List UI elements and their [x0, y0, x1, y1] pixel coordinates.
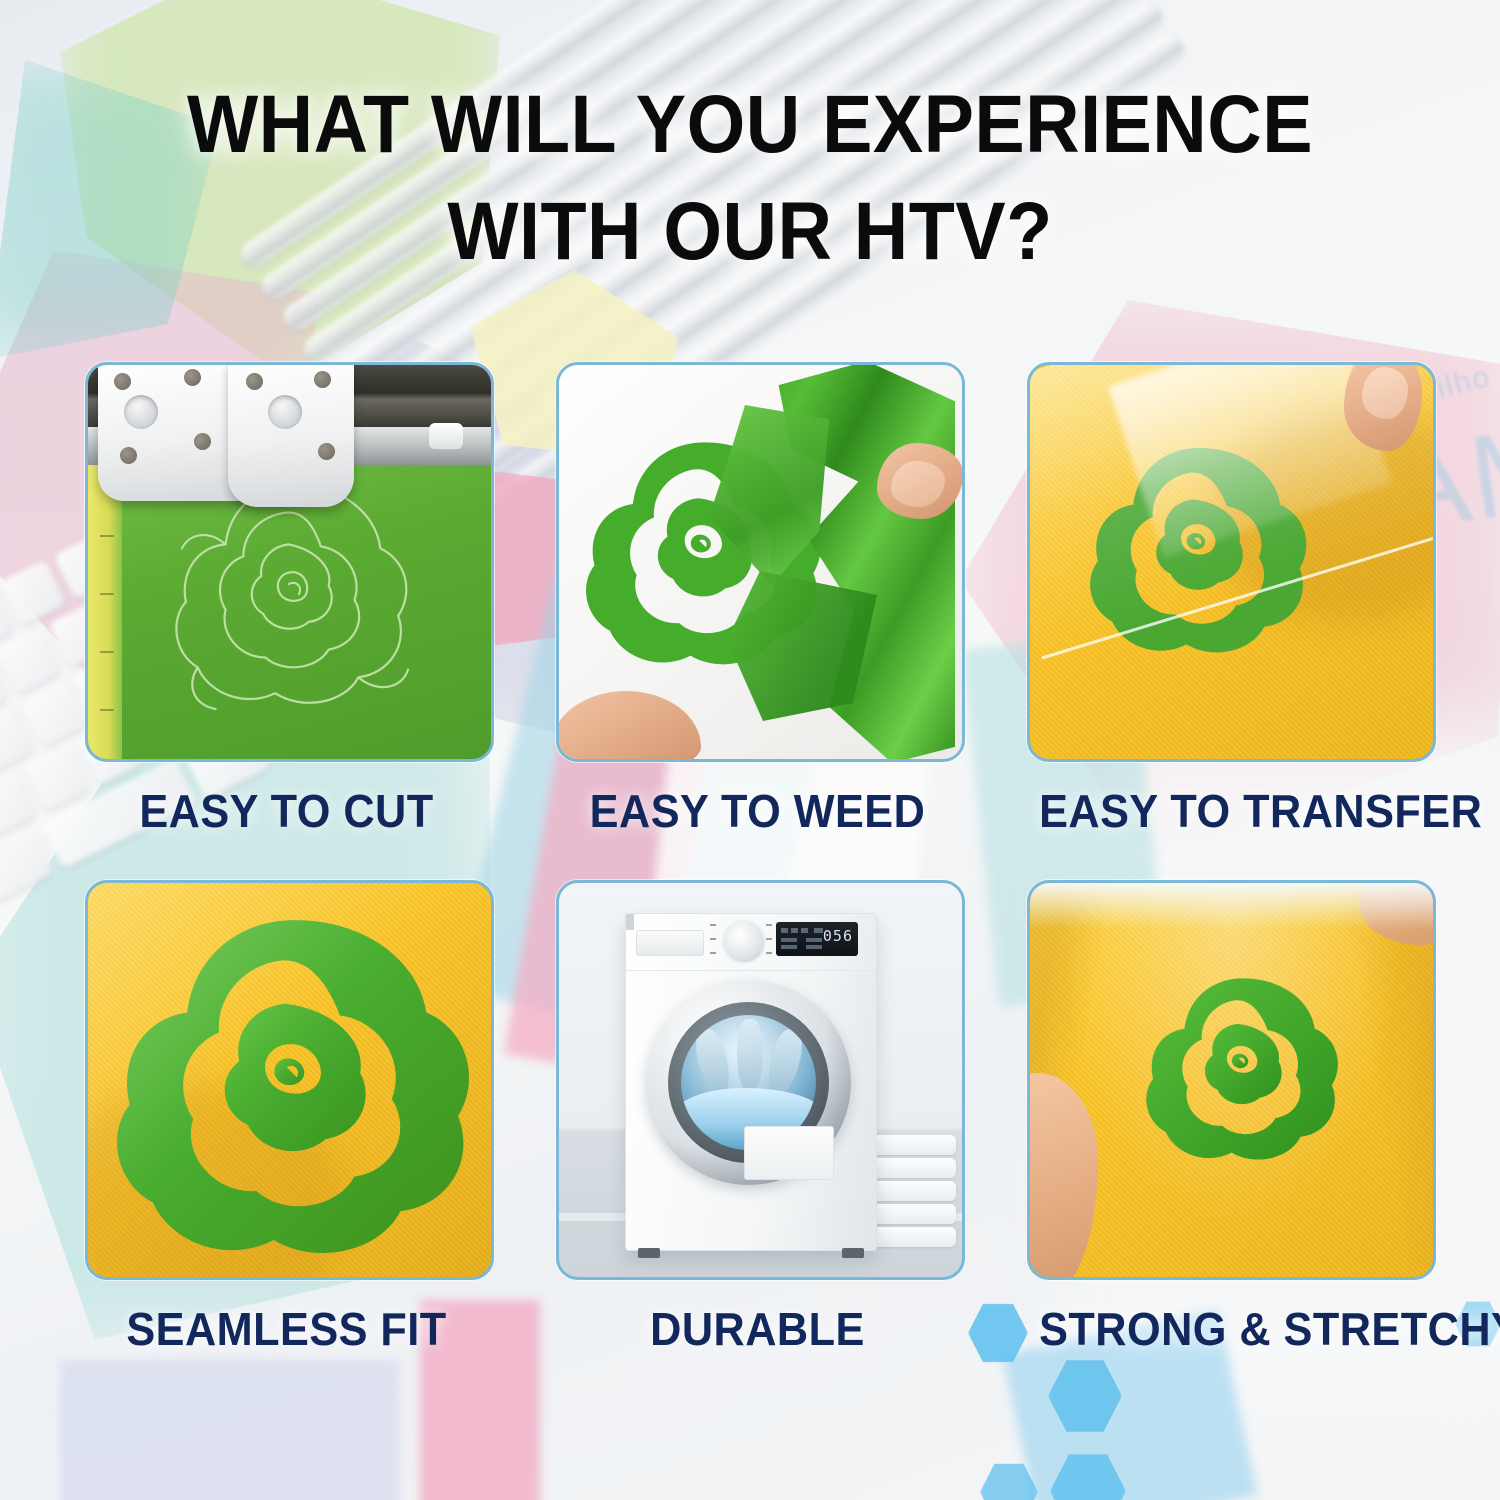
display-value: 056 — [823, 927, 853, 945]
panel-strong-and-stretchy[interactable] — [1027, 880, 1436, 1280]
vinyl-backing-edge — [88, 461, 122, 759]
panel-easy-to-transfer[interactable] — [1027, 362, 1436, 762]
feature-cell-easy-to-cut: EASY TO CUT — [85, 362, 488, 838]
washing-machine: 056 — [625, 913, 877, 1251]
caption-easy-to-transfer: EASY TO TRANSFER — [1039, 784, 1418, 838]
detergent-drawer — [636, 930, 704, 956]
feature-cell-durable: 056 — [556, 880, 959, 1356]
caption-strong-and-stretchy: STRONG & STRETCHY — [1039, 1302, 1418, 1356]
ruler-tick — [100, 593, 114, 595]
infographic-canvas: silho AM WHAT WILL YOU EXPERIENCE WITH O… — [0, 0, 1500, 1500]
caption-durable: DURABLE — [568, 1302, 947, 1356]
feature-cell-seamless-fit: SEAMLESS FIT — [85, 880, 488, 1356]
ruler-tick — [100, 535, 114, 537]
panel-seamless-fit[interactable] — [85, 880, 494, 1280]
page-title: WHAT WILL YOU EXPERIENCE WITH OUR HTV? — [60, 72, 1440, 285]
cutter-carriage-blade-holder — [228, 362, 354, 507]
feature-row-2: SEAMLESS FIT — [85, 880, 1430, 1356]
machine-foot — [842, 1248, 864, 1258]
caption-easy-to-cut: EASY TO CUT — [97, 784, 476, 838]
control-panel: 056 — [626, 914, 876, 971]
filter-hatch — [744, 1126, 834, 1180]
rose-design-icon — [1122, 969, 1360, 1165]
feature-cell-easy-to-transfer: EASY TO TRANSFER — [1027, 362, 1430, 838]
display-screen: 056 — [776, 922, 858, 956]
paper-shard-lavender-bottom — [60, 1360, 400, 1500]
feature-cell-strong-and-stretchy: STRONG & STRETCHY — [1027, 880, 1430, 1356]
feature-row-1: EASY TO CUT — [85, 362, 1430, 838]
cutter-roller — [429, 423, 463, 449]
machine-foot — [638, 1248, 660, 1258]
feature-cell-easy-to-weed: EASY TO WEED — [556, 362, 959, 838]
panel-easy-to-weed[interactable] — [556, 362, 965, 762]
panel-durable[interactable]: 056 — [556, 880, 965, 1280]
fingernail — [1362, 367, 1408, 419]
caption-seamless-fit: SEAMLESS FIT — [97, 1302, 476, 1356]
panel-easy-to-cut[interactable] — [85, 362, 494, 762]
ruler-tick — [100, 709, 114, 711]
program-dial[interactable] — [722, 920, 766, 964]
fabric-sheen — [88, 883, 491, 1277]
feature-grid: EASY TO CUT — [85, 362, 1430, 1356]
fabric-top-edge — [1030, 883, 1433, 929]
caption-easy-to-weed: EASY TO WEED — [568, 784, 947, 838]
ruler-tick — [100, 651, 114, 653]
